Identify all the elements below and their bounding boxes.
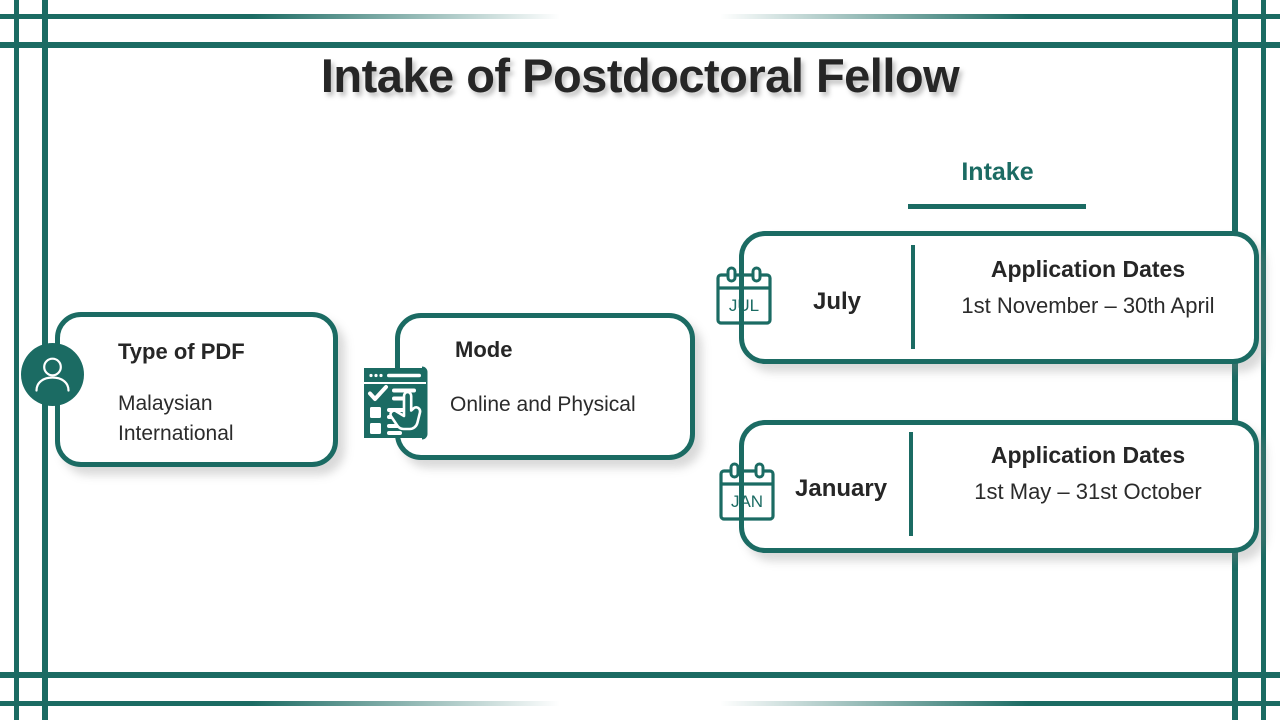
calendar-icon-jul-label: JUL: [729, 296, 759, 315]
card-type-of-pdf-title: Type of PDF: [118, 339, 245, 365]
frame-line-bottom-left-upper: [0, 672, 1280, 678]
intake-dates-january: Application Dates 1st May – 31st October: [908, 442, 1268, 505]
intake-heading-underline: [908, 204, 1086, 209]
intake-heading: Intake: [880, 158, 1115, 187]
frame-line-bottom-right-upper: [40, 672, 1280, 678]
frame-line-bottom-right-lower: [720, 701, 1280, 706]
frame-line-right-bottom-inner: [1261, 20, 1266, 720]
frame-line-left-top-inner: [14, 0, 19, 700]
online-form-hand-icon: [360, 362, 442, 444]
calendar-icon-jan-label: JAN: [731, 492, 763, 511]
card-mode-title: Mode: [455, 337, 512, 363]
frame-line-right-top-inner: [1261, 0, 1266, 700]
card-mode-body: Online and Physical: [450, 393, 636, 417]
intake-month-january: January: [795, 475, 887, 503]
application-dates-range-july: 1st November – 30th April: [908, 293, 1268, 319]
frame-line-bottom-left-lower: [0, 701, 560, 706]
page-title: Intake of Postdoctoral Fellow: [0, 48, 1280, 103]
application-dates-title-july: Application Dates: [908, 256, 1268, 283]
application-dates-range-january: 1st May – 31st October: [908, 479, 1268, 505]
type-of-pdf-option-malaysian: Malaysian: [118, 389, 234, 419]
type-of-pdf-option-international: International: [118, 419, 234, 449]
frame-line-top-left-upper: [0, 14, 560, 19]
frame-line-top-right-upper: [720, 14, 1280, 19]
intake-month-july: July: [813, 288, 861, 316]
slide-canvas: Intake of Postdoctoral Fellow Type of PD…: [0, 0, 1280, 720]
calendar-icon-jul: JUL: [713, 266, 775, 328]
card-type-of-pdf-body: Malaysian International: [118, 389, 234, 449]
calendar-icon-jan: JAN: [716, 462, 778, 524]
person-icon: [21, 343, 84, 406]
application-dates-title-january: Application Dates: [908, 442, 1268, 469]
frame-line-left-bottom-inner: [14, 20, 19, 720]
intake-dates-july: Application Dates 1st November – 30th Ap…: [908, 256, 1268, 319]
card-type-of-pdf: Type of PDF Malaysian International: [55, 312, 338, 467]
